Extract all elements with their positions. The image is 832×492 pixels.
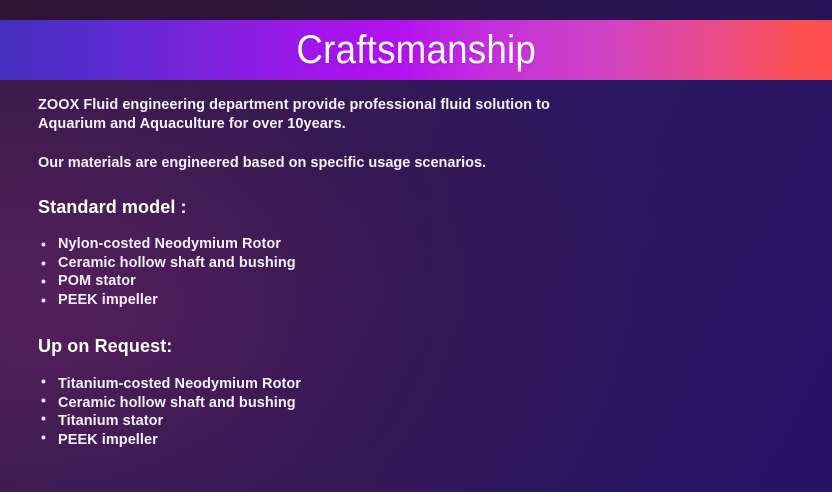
slide-root: Craftsmanship ZOOX Fluid engineering dep… xyxy=(0,0,832,492)
list-item: Nylon-costed Neodymium Rotor xyxy=(38,235,738,254)
intro-line-2: Aquarium and Aquaculture for over 10year… xyxy=(38,115,578,134)
list-item: PEEK impeller xyxy=(38,431,738,450)
up-on-request-list: Titanium-costed Neodymium Rotor Ceramic … xyxy=(38,375,738,449)
section-heading-up-on-request: Up on Request: xyxy=(38,336,738,357)
title-banner: Craftsmanship xyxy=(0,20,832,80)
materials-statement: Our materials are engineered based on sp… xyxy=(38,154,738,173)
list-item: Titanium stator xyxy=(38,412,738,431)
list-item: Titanium-costed Neodymium Rotor xyxy=(38,375,738,394)
page-title: Craftsmanship xyxy=(296,30,536,70)
list-item: PEEK impeller xyxy=(38,291,738,310)
top-strip xyxy=(0,0,832,20)
list-item: Ceramic hollow shaft and bushing xyxy=(38,254,738,273)
content-area: ZOOX Fluid engineering department provid… xyxy=(38,96,738,449)
intro-paragraph: ZOOX Fluid engineering department provid… xyxy=(38,96,578,134)
section-heading-standard-model: Standard model : xyxy=(38,197,738,218)
list-item: Ceramic hollow shaft and bushing xyxy=(38,394,738,413)
list-item: POM stator xyxy=(38,272,738,291)
intro-line-1: ZOOX Fluid engineering department provid… xyxy=(38,96,578,115)
standard-model-list: Nylon-costed Neodymium Rotor Ceramic hol… xyxy=(38,235,738,309)
